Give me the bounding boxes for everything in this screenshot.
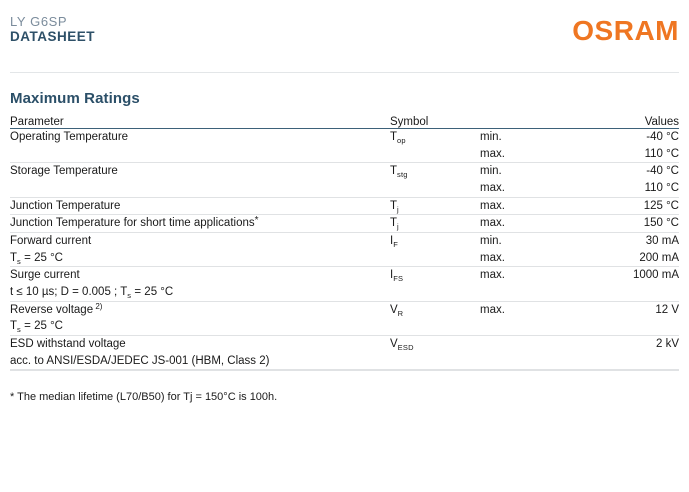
table-row: Junction TemperatureTjmax.125 °C (10, 197, 679, 215)
qualifier-label: max. (480, 198, 590, 215)
column-header-symbol: Symbol (390, 116, 480, 129)
footnote-divider (10, 370, 679, 371)
cell-symbol: IFS (390, 267, 480, 301)
cell-parameter: Forward currentTs = 25 °C (10, 233, 390, 267)
cell-value: -40 °C110 °C (590, 163, 679, 197)
cell-value: 150 °C (590, 215, 679, 233)
value-label: 150 °C (590, 215, 679, 232)
cell-qualifier: min.max. (480, 129, 590, 163)
cell-symbol: IF (390, 233, 480, 267)
qualifier-label: min. (480, 163, 590, 180)
parameter-label: Forward current (10, 233, 390, 250)
symbol-label: Tj (390, 217, 399, 229)
qualifier-label: max. (480, 215, 590, 232)
table-row: Operating TemperatureTopmin.max.-40 °C11… (10, 129, 679, 163)
table-row: Forward currentTs = 25 °CIFmin.max.30 mA… (10, 233, 679, 267)
table-row: Storage TemperatureTstgmin.max.-40 °C110… (10, 163, 679, 197)
parameter-subtext: Ts = 25 °C (10, 250, 390, 267)
column-header-values: Values (590, 116, 679, 129)
cell-qualifier: max. (480, 215, 590, 233)
cell-parameter: Operating Temperature (10, 129, 390, 163)
column-header-parameter: Parameter (10, 116, 390, 129)
symbol-subscript: stg (397, 170, 408, 179)
document-type-label: DATASHEET (10, 29, 95, 45)
value-label: 110 °C (590, 146, 679, 163)
cell-qualifier: max. (480, 301, 590, 335)
table-row: Reverse voltage 2)Ts = 25 °CVRmax.12 V (10, 301, 679, 335)
cell-qualifier: max. (480, 267, 590, 301)
cell-parameter: ESD withstand voltageacc. to ANSI/ESDA/J… (10, 336, 390, 370)
symbol-label: VR (390, 304, 403, 316)
qualifier-label: max. (480, 250, 590, 267)
symbol-subscript: ESD (398, 343, 414, 352)
symbol-label: Tj (390, 200, 399, 212)
cell-value: 125 °C (590, 197, 679, 215)
symbol-label: Top (390, 131, 406, 143)
symbol-subscript: F (393, 240, 398, 249)
parameter-footnote-marker: 2) (93, 302, 102, 311)
parameter-label: Reverse voltage 2) (10, 302, 390, 319)
symbol-subscript: j (397, 205, 399, 214)
cell-parameter: Storage Temperature (10, 163, 390, 197)
symbol-label: Tstg (390, 165, 408, 177)
table-row: Surge currentt ≤ 10 µs; D = 0.005 ; Ts =… (10, 267, 679, 301)
subscript: s (127, 291, 131, 300)
table-body: Operating TemperatureTopmin.max.-40 °C11… (10, 129, 679, 370)
qualifier-label: min. (480, 233, 590, 250)
cell-value: -40 °C110 °C (590, 129, 679, 163)
cell-value: 2 kV (590, 336, 679, 370)
parameter-subtext: acc. to ANSI/ESDA/JEDEC JS-001 (HBM, Cla… (10, 353, 390, 370)
qualifier-label: max. (480, 267, 590, 284)
parameter-subtext: Ts = 25 °C (10, 318, 390, 335)
maximum-ratings-table: Parameter Symbol Values Operating Temper… (10, 116, 679, 370)
parameter-label: Surge current (10, 267, 390, 284)
cell-parameter: Surge currentt ≤ 10 µs; D = 0.005 ; Ts =… (10, 267, 390, 301)
footnote-text: * The median lifetime (L70/B50) for Tj =… (10, 391, 679, 403)
parameter-label: Operating Temperature (10, 129, 390, 146)
parameter-subtext: t ≤ 10 µs; D = 0.005 ; Ts = 25 °C (10, 284, 390, 301)
value-label: 30 mA (590, 233, 679, 250)
page-title: Maximum Ratings (10, 90, 679, 107)
qualifier-label: max. (480, 146, 590, 163)
cell-symbol: VESD (390, 336, 480, 370)
symbol-subscript: j (397, 222, 399, 231)
qualifier-label: min. (480, 129, 590, 146)
part-number: LY G6SP (10, 14, 95, 29)
parameter-label: Storage Temperature (10, 163, 390, 180)
symbol-label: VESD (390, 338, 414, 350)
symbol-subscript: R (398, 309, 404, 318)
cell-qualifier: min.max. (480, 233, 590, 267)
parameter-label: Junction Temperature for short time appl… (10, 215, 390, 232)
symbol-label: IF (390, 235, 398, 247)
cell-qualifier: min.max. (480, 163, 590, 197)
parameter-label: ESD withstand voltage (10, 336, 390, 353)
cell-symbol: VR (390, 301, 480, 335)
column-header-qualifier (480, 116, 590, 129)
parameter-label: Junction Temperature (10, 198, 390, 215)
symbol-subscript: FS (393, 274, 403, 283)
value-label: 2 kV (590, 336, 679, 353)
value-label: 12 V (590, 302, 679, 319)
table-row: Junction Temperature for short time appl… (10, 215, 679, 233)
value-label: 110 °C (590, 180, 679, 197)
value-label: 1000 mA (590, 267, 679, 284)
qualifier-label: max. (480, 180, 590, 197)
cell-symbol: Top (390, 129, 480, 163)
subscript: s (17, 257, 21, 266)
value-label: -40 °C (590, 163, 679, 180)
document-identity: LY G6SP DATASHEET (10, 14, 95, 45)
table-row: ESD withstand voltageacc. to ANSI/ESDA/J… (10, 336, 679, 370)
header-divider (10, 72, 679, 73)
cell-qualifier: max. (480, 197, 590, 215)
parameter-footnote-marker: * (255, 215, 259, 226)
symbol-label: IFS (390, 269, 403, 281)
cell-parameter: Reverse voltage 2)Ts = 25 °C (10, 301, 390, 335)
cell-symbol: Tj (390, 197, 480, 215)
table-header-row: Parameter Symbol Values (10, 116, 679, 129)
table-header: Parameter Symbol Values (10, 116, 679, 129)
cell-symbol: Tj (390, 215, 480, 233)
value-label: 200 mA (590, 250, 679, 267)
cell-value: 12 V (590, 301, 679, 335)
value-label: 125 °C (590, 198, 679, 215)
value-label: -40 °C (590, 129, 679, 146)
cell-symbol: Tstg (390, 163, 480, 197)
datasheet-page: LY G6SP DATASHEET OSRAM Maximum Ratings … (0, 0, 689, 492)
document-header: LY G6SP DATASHEET OSRAM (10, 0, 679, 62)
symbol-subscript: op (397, 136, 406, 145)
cell-parameter: Junction Temperature for short time appl… (10, 215, 390, 233)
cell-parameter: Junction Temperature (10, 197, 390, 215)
qualifier-label: max. (480, 302, 590, 319)
cell-value: 1000 mA (590, 267, 679, 301)
cell-qualifier (480, 336, 590, 370)
cell-value: 30 mA200 mA (590, 233, 679, 267)
osram-logo: OSRAM (572, 15, 679, 47)
subscript: s (17, 325, 21, 334)
